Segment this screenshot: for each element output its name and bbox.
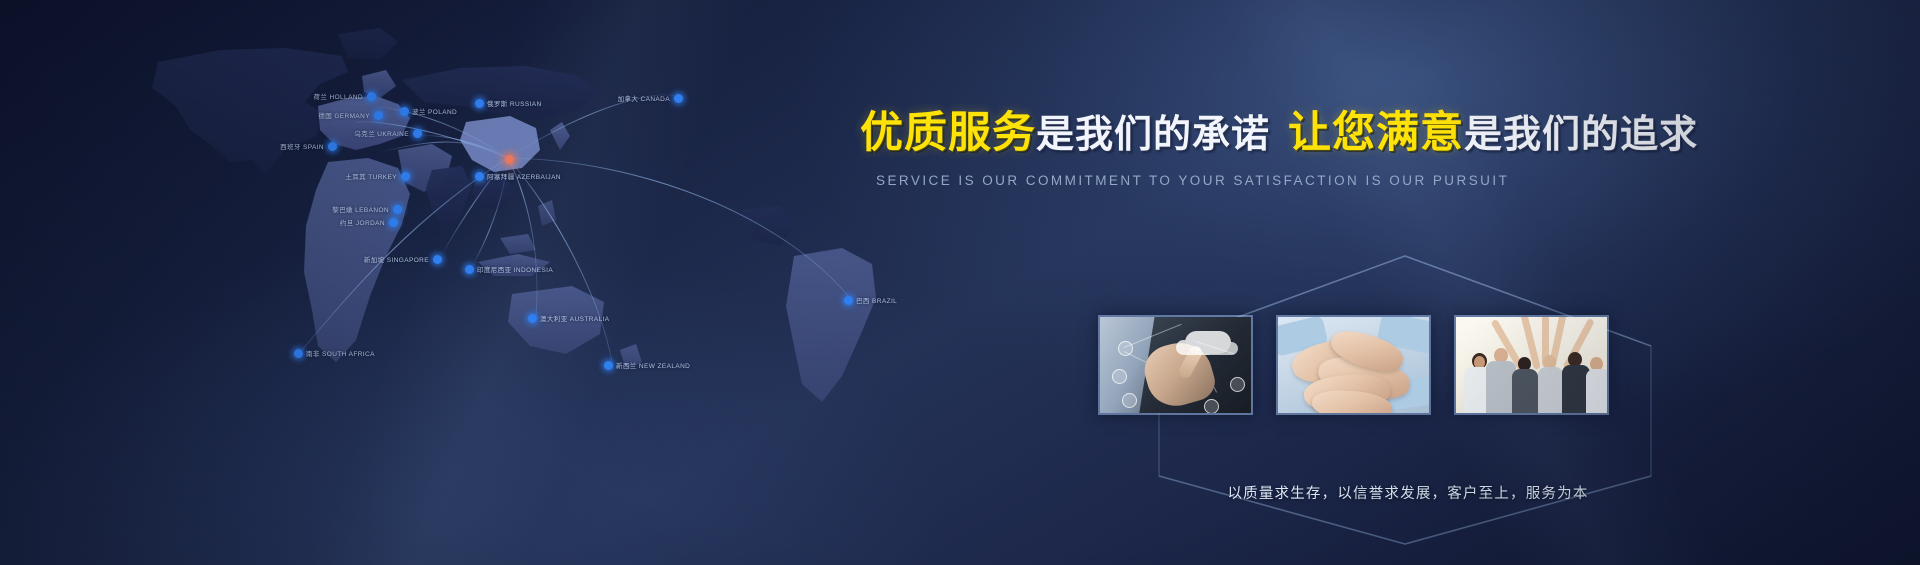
map-label-13: 澳大利亚 AUSTRALIA [540,313,610,323]
map-label-12: 印度尼西亚 INDONESIA [477,264,553,274]
map-dot-9 [475,99,484,108]
landmass-india [426,166,472,232]
service-promise-banner: 荷兰 HOLLAND德国 GERMANY波兰 POLAND乌克兰 UKRAINE… [0,0,1920,565]
cloud-touch-photo [1098,315,1253,415]
map-label-9: 俄罗斯 RUSSIAN [487,98,542,108]
team-high-five-photo [1454,315,1609,415]
map-dot-16 [844,296,853,305]
world-map-svg [80,10,890,480]
map-label-11: 新加坡 SINGAPORE [364,254,429,264]
map-label-7: 约旦 JORDAN [340,217,385,227]
map-dot-7 [389,218,398,227]
map-dot-13 [528,314,537,323]
page-title: 优质服务是我们的承诺让您满意是我们的追求 [860,112,1860,155]
headline-block: 优质服务是我们的承诺让您满意是我们的追求 SERVICE IS OUR COMM… [860,112,1860,188]
headline-rest-1: 是我们的承诺 [1036,112,1270,156]
world-map: 荷兰 HOLLAND德国 GERMANY波兰 POLAND乌克兰 UKRAINE… [80,10,890,480]
landmass-central-america [740,206,794,246]
landmass-japan [550,122,570,150]
map-dot-1 [374,111,383,120]
stacked-hands-photo [1276,315,1431,415]
map-dot-5 [401,172,410,181]
map-dot-12 [465,265,474,274]
map-dot-3 [413,129,422,138]
photo-strip [1098,315,1609,415]
map-dot-14 [604,361,613,370]
map-label-3: 乌克兰 UKRAINE [354,128,409,138]
landmass-south-america [786,248,876,402]
headline-highlight-2: 让您满意 [1288,108,1464,158]
page-subtitle: SERVICE IS OUR COMMITMENT TO YOUR SATISF… [876,173,1860,188]
map-dot-2 [400,107,409,116]
map-dot-8 [674,94,683,103]
map-label-15: 南非 SOUTH AFRICA [306,348,375,358]
map-dot-0 [367,92,376,101]
map-dot-15 [294,349,303,358]
landmass-borneo [500,234,536,254]
map-dot-11 [433,255,442,264]
map-label-2: 波兰 POLAND [412,106,457,116]
map-label-16: 巴西 BRAZIL [856,295,897,305]
map-dot-10 [475,172,484,181]
headline-rest-2: 是我们的追求 [1464,112,1698,156]
map-label-8: 加拿大 CANADA [618,93,670,103]
map-label-10: 阿塞拜疆 AZERBAIJAN [487,171,561,181]
landmass-philippines [538,200,556,226]
light-sheen-decoration-secondary [820,0,1920,565]
map-dot-china [505,155,514,164]
headline-highlight-1: 优质服务 [860,108,1036,158]
landmass-greenland [338,28,398,60]
map-label-4: 西班牙 SPAIN [280,141,324,151]
map-dot-4 [328,142,337,151]
map-label-0: 荷兰 HOLLAND [313,91,363,101]
map-label-5: 土耳其 TURKEY [345,171,397,181]
map-label-6: 黎巴嫩 LEBANON [332,204,389,214]
map-label-14: 新西兰 NEW ZEALAND [616,360,690,370]
map-label-1: 德国 GERMANY [318,110,370,120]
map-dot-6 [393,205,402,214]
company-tagline: 以质量求生存，以信誉求发展，客户至上，服务为本 [1098,482,1718,503]
